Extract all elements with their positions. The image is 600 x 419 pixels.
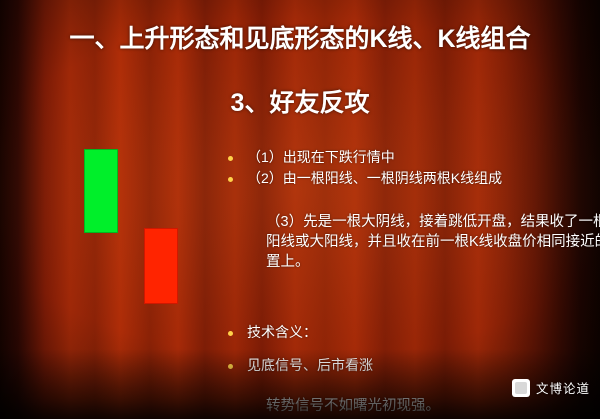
watermark-label: 文博论道 bbox=[536, 378, 590, 397]
bullet-text: 见底信号、后市看涨 bbox=[247, 356, 373, 375]
watermark: 文博论道 bbox=[512, 378, 590, 397]
bullet-text: （1）出现在下跌行情中 bbox=[247, 148, 395, 167]
list-item: 见底信号、后市看涨 bbox=[228, 356, 594, 375]
bullet-dot-icon bbox=[228, 156, 233, 161]
bullet-list-upper: （1）出现在下跌行情中 （2）由一根阳线、一根阴线两根K线组成 bbox=[228, 148, 594, 190]
bullet-text: （2）由一根阳线、一根阴线两根K线组成 bbox=[247, 169, 502, 188]
list-item: （2）由一根阳线、一根阴线两根K线组成 bbox=[228, 169, 594, 188]
watermark-logo-icon bbox=[512, 379, 530, 397]
page-subtitle: 3、好友反攻 bbox=[0, 88, 600, 118]
bullet-dot-icon bbox=[228, 364, 233, 369]
paragraph-detail: （3）先是一根大阴线，接着跳低开盘，结果收了一根中阳线或大阳线，并且收在前一根K… bbox=[266, 212, 600, 272]
slide: 一、上升形态和见底形态的K线、K线组合 3、好友反攻 （1）出现在下跌行情中 （… bbox=[0, 0, 600, 419]
bullet-dot-icon bbox=[228, 331, 233, 336]
list-item: 技术含义： bbox=[228, 323, 594, 342]
bullet-dot-icon bbox=[228, 177, 233, 182]
bullet-list-lower: 技术含义： 见底信号、后市看涨 bbox=[228, 323, 594, 377]
list-item: （1）出现在下跌行情中 bbox=[228, 148, 594, 167]
bullet-text: 技术含义： bbox=[247, 323, 317, 342]
red-candle-bearish bbox=[144, 228, 178, 304]
green-candle-bullish bbox=[84, 149, 118, 233]
page-title: 一、上升形态和见底形态的K线、K线组合 bbox=[0, 24, 600, 54]
closing-statement: 转势信号不如曙光初现强。 bbox=[266, 396, 440, 416]
